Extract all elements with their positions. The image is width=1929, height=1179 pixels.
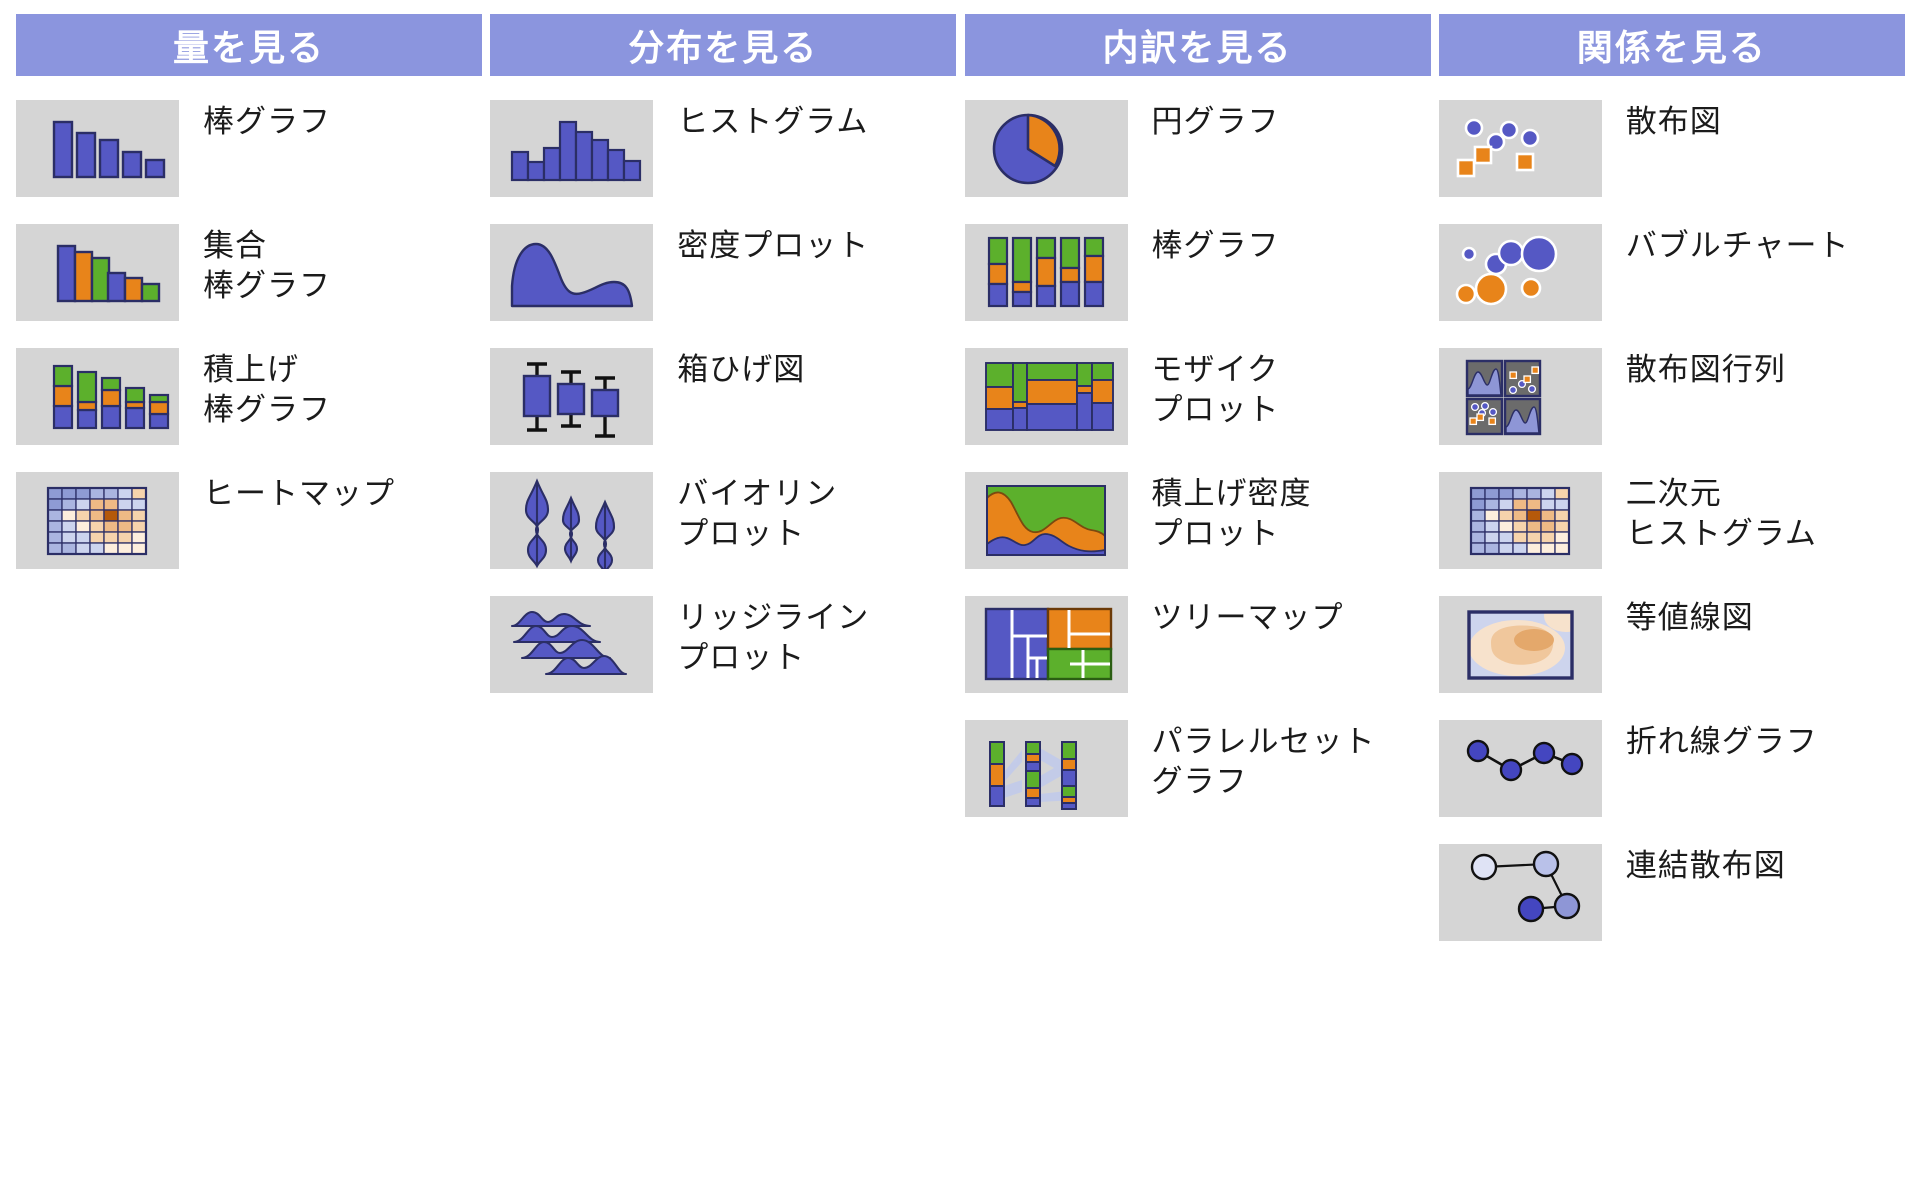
list-item-label: 棒グラフ [1152, 224, 1280, 266]
proportional-bar-chart-icon [965, 224, 1128, 321]
list-item[interactable]: モザイク プロット [965, 348, 1431, 448]
list-item-label: 円グラフ [1152, 100, 1280, 142]
column-header-quantity: 量を見る [16, 14, 482, 76]
list-item-label: 散布図行列 [1626, 348, 1786, 390]
grouped-bar-chart-icon [16, 224, 179, 321]
contour-plot-icon [1439, 596, 1602, 693]
histogram-icon [490, 100, 653, 197]
list-item[interactable]: バイオリン プロット [490, 472, 956, 572]
column-relationship: 関係を見る 散布図 [1439, 14, 1913, 968]
column-quantity: 量を見る 棒グラフ [16, 14, 490, 968]
heatmap-icon [16, 472, 179, 569]
column-header-relationship: 関係を見る [1439, 14, 1905, 76]
stacked-bar-chart-icon [16, 348, 179, 445]
list-item-label: ツリーマップ [1152, 596, 1344, 638]
bubble-chart-icon [1439, 224, 1602, 321]
chart-type-grid: 量を見る 棒グラフ [0, 0, 1929, 968]
list-item[interactable]: ヒートマップ [16, 472, 482, 572]
list-item[interactable]: 散布図 [1439, 100, 1905, 200]
density-plot-icon [490, 224, 653, 321]
box-plot-icon [490, 348, 653, 445]
list-item[interactable]: 積上げ密度 プロット [965, 472, 1431, 572]
list-item-label: 折れ線グラフ [1626, 720, 1818, 762]
scatter-matrix-icon [1439, 348, 1602, 445]
list-item[interactable]: 折れ線グラフ [1439, 720, 1905, 820]
list-item-label: 積上げ 棒グラフ [203, 348, 331, 429]
line-chart-icon [1439, 720, 1602, 817]
pie-chart-icon [965, 100, 1128, 197]
ridgeline-plot-icon [490, 596, 653, 693]
list-item-label: 二次元 ヒストグラム [1626, 472, 1817, 553]
column-distribution: 分布を見る ヒストグラム [490, 14, 964, 968]
list-item[interactable]: 積上げ 棒グラフ [16, 348, 482, 448]
list-item-label: リッジライン プロット [677, 596, 869, 677]
list-item[interactable]: 二次元 ヒストグラム [1439, 472, 1905, 572]
list-item-label: モザイク プロット [1152, 348, 1280, 429]
column-header-distribution: 分布を見る [490, 14, 956, 76]
scatter-plot-icon [1439, 100, 1602, 197]
list-item-label: 積上げ密度 プロット [1152, 472, 1312, 553]
parallel-sets-icon [965, 720, 1128, 817]
list-item[interactable]: 円グラフ [965, 100, 1431, 200]
list-item[interactable]: 棒グラフ [16, 100, 482, 200]
bar-chart-icon [16, 100, 179, 197]
list-item[interactable]: 棒グラフ [965, 224, 1431, 324]
connected-scatter-plot-icon [1439, 844, 1602, 941]
list-item[interactable]: リッジライン プロット [490, 596, 956, 696]
list-item-label: ヒートマップ [203, 472, 395, 514]
list-item-label: ヒストグラム [677, 100, 868, 142]
list-item-label: 棒グラフ [203, 100, 331, 142]
treemap-icon [965, 596, 1128, 693]
mosaic-plot-icon [965, 348, 1128, 445]
list-item-label: 密度プロット [677, 224, 869, 266]
list-item-label: バイオリン プロット [677, 472, 837, 553]
list-item[interactable]: 密度プロット [490, 224, 956, 324]
violin-plot-icon [490, 472, 653, 569]
list-item[interactable]: ヒストグラム [490, 100, 956, 200]
list-item[interactable]: 連結散布図 [1439, 844, 1905, 944]
column-breakdown: 内訳を見る 円グラフ [965, 14, 1439, 968]
list-item[interactable]: 集合 棒グラフ [16, 224, 482, 324]
list-item-label: 箱ひげ図 [677, 348, 805, 390]
list-item-label: 等値線図 [1626, 596, 1754, 638]
list-item-label: 散布図 [1626, 100, 1722, 142]
list-item[interactable]: パラレルセット グラフ [965, 720, 1431, 820]
column-header-breakdown: 内訳を見る [965, 14, 1431, 76]
list-item[interactable]: 散布図行列 [1439, 348, 1905, 448]
list-item[interactable]: ツリーマップ [965, 596, 1431, 696]
list-item-label: バブルチャート [1626, 224, 1850, 266]
list-item[interactable]: 箱ひげ図 [490, 348, 956, 448]
list-item-label: 連結散布図 [1626, 844, 1786, 886]
list-item[interactable]: 等値線図 [1439, 596, 1905, 696]
stacked-density-plot-icon [965, 472, 1128, 569]
list-item-label: 集合 棒グラフ [203, 224, 331, 305]
two-d-histogram-icon [1439, 472, 1602, 569]
list-item[interactable]: バブルチャート [1439, 224, 1905, 324]
list-item-label: パラレルセット グラフ [1152, 720, 1376, 801]
